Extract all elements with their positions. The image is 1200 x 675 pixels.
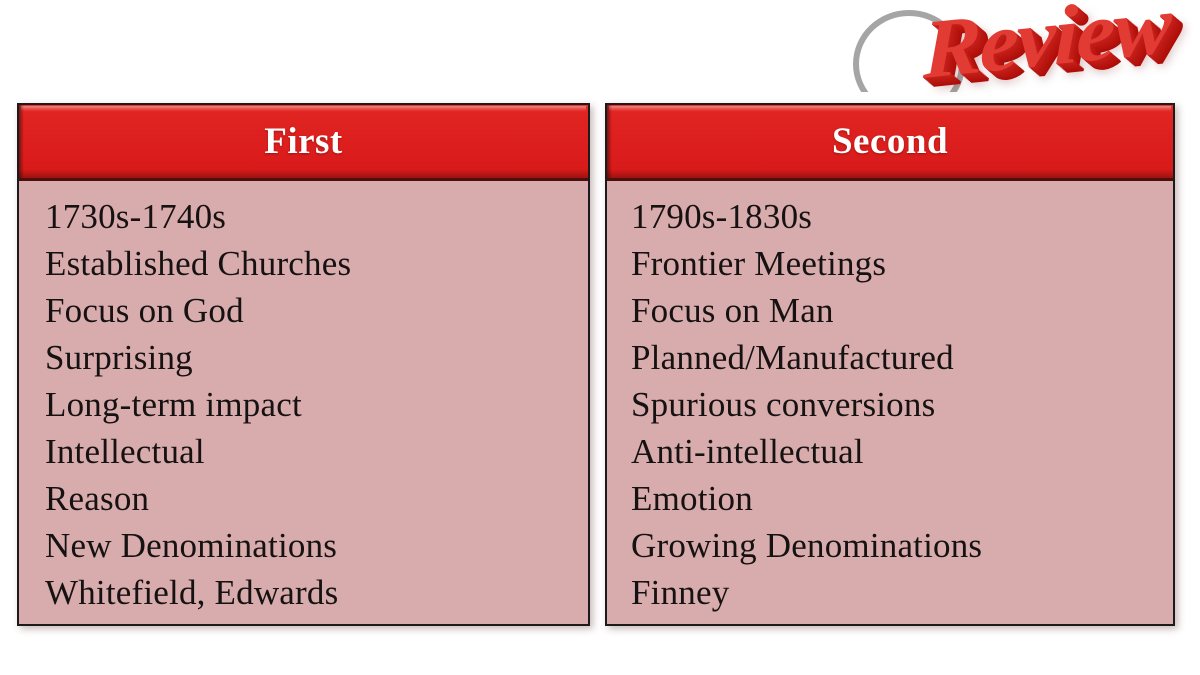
list-item: Focus on God — [45, 287, 588, 334]
list-item: Frontier Meetings — [631, 240, 1173, 287]
magnifier-ring-icon — [853, 10, 965, 118]
list-item: Long-term impact — [45, 381, 588, 428]
list-item: Reason — [45, 475, 588, 522]
table-body-second: 1790s-1830s Frontier Meetings Focus on M… — [607, 181, 1173, 616]
list-item: Growing Denominations — [631, 522, 1173, 569]
list-item: Whitefield, Edwards — [45, 569, 588, 616]
table-header-first-label: First — [264, 123, 343, 160]
table-body-first: 1730s-1740s Established Churches Focus o… — [19, 181, 588, 616]
list-item: Spurious conversions — [631, 381, 1173, 428]
comparison-table-second: Second 1790s-1830s Frontier Meetings Foc… — [605, 103, 1175, 626]
list-item: Established Churches — [45, 240, 588, 287]
review-graphic: Review — [845, 0, 1200, 118]
table-header-second-label: Second — [832, 123, 948, 160]
list-item: Planned/Manufactured — [631, 334, 1173, 381]
list-item: Anti-intellectual — [631, 428, 1173, 475]
table-header-first: First — [19, 105, 588, 181]
list-item: 1790s-1830s — [631, 193, 1173, 240]
list-item: Focus on Man — [631, 287, 1173, 334]
review-wordart-label: Review — [923, 0, 1170, 99]
list-item: New Denominations — [45, 522, 588, 569]
slide-canvas: Review First 1730s-1740s Established Chu… — [0, 0, 1200, 675]
list-item: Surprising — [45, 334, 588, 381]
list-item: Finney — [631, 569, 1173, 616]
list-item: Intellectual — [45, 428, 588, 475]
list-item: 1730s-1740s — [45, 193, 588, 240]
list-item: Emotion — [631, 475, 1173, 522]
comparison-table-first: First 1730s-1740s Established Churches F… — [17, 103, 590, 626]
table-header-second: Second — [607, 105, 1173, 181]
